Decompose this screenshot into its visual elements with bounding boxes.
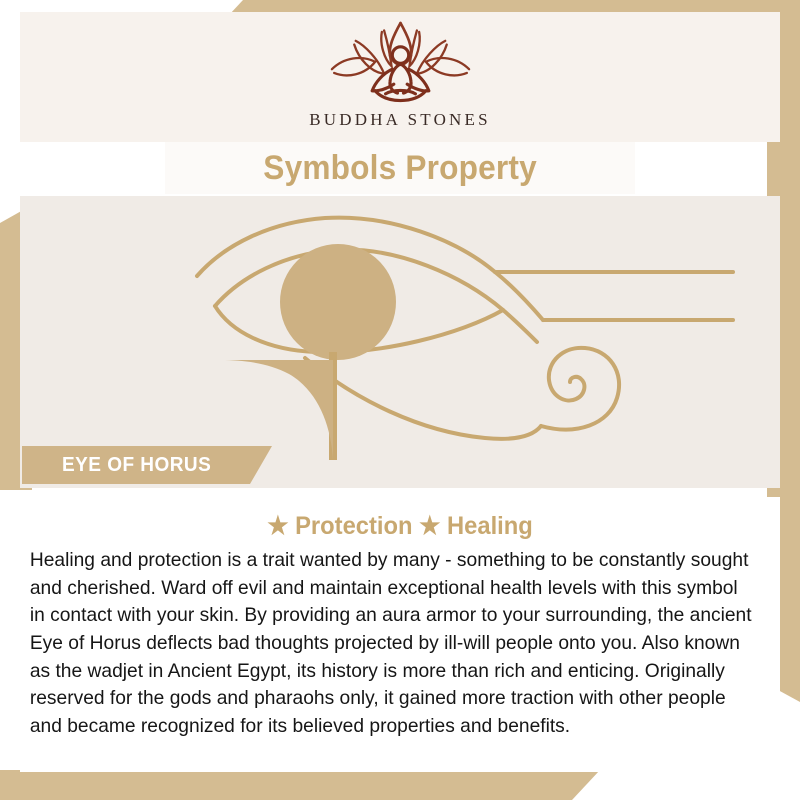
- brand-name: BUDDHA STONES: [309, 110, 491, 130]
- gold-band-bottom: [0, 770, 600, 800]
- symbol-panel: [20, 196, 780, 488]
- eye-iris: [280, 244, 396, 360]
- description-text: Healing and protection is a trait wanted…: [20, 547, 769, 741]
- symbol-name-label: EYE OF HORUS: [62, 454, 211, 477]
- title-band: Symbols Property: [165, 142, 635, 194]
- eye-teardrop-tail: [221, 360, 333, 460]
- page-title: Symbols Property: [263, 149, 537, 188]
- brand-logo: BUDDHA STONES: [20, 20, 780, 130]
- infographic-page: BUDDHA STONES Symbols Property: [0, 0, 800, 800]
- eye-of-horus-icon: [185, 210, 745, 460]
- symbol-name-banner: EYE OF HORUS: [22, 446, 272, 484]
- description-block: ★ Protection ★ Healing Healing and prote…: [20, 497, 780, 772]
- lotus-meditating-figure-icon: [318, 20, 483, 108]
- eye-spiral: [541, 348, 619, 430]
- properties-line: ★ Protection ★ Healing: [39, 511, 761, 541]
- brand-header: BUDDHA STONES: [20, 12, 780, 142]
